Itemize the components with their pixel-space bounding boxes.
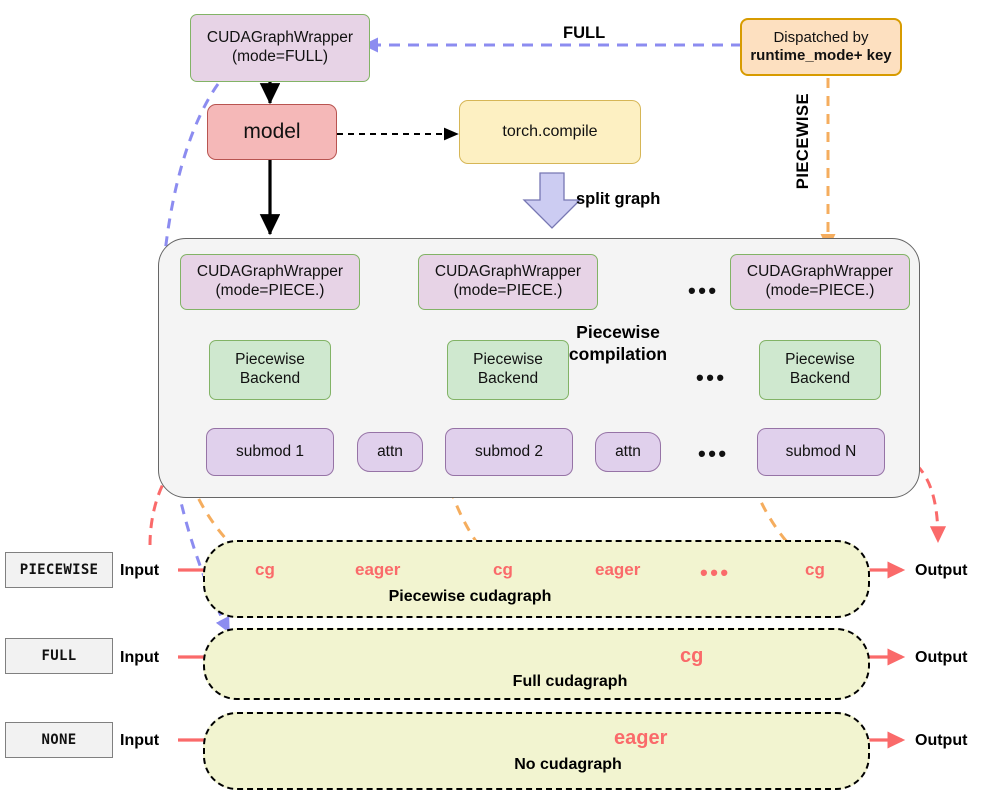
node-cudagraphwrapper-piece-1[interactable]: CUDAGraphWrapper (mode=PIECE.) <box>180 254 360 310</box>
node-dispatch[interactable]: Dispatched by runtime_mode+ key <box>740 18 902 76</box>
lane-piecewise-step-5: cg <box>805 560 825 580</box>
model-label: model <box>243 119 300 145</box>
group-ellipsis-wrappers: ••• <box>688 280 719 302</box>
lane-none-caption: No cudagraph <box>514 756 622 774</box>
lane-piecewise-output: Output <box>915 562 967 580</box>
node-torch-compile[interactable]: torch.compile <box>459 100 641 164</box>
node-cudagraphwrapper-piece-2[interactable]: CUDAGraphWrapper (mode=PIECE.) <box>418 254 598 310</box>
lane-piecewise-step-3: eager <box>595 560 640 580</box>
node-submod-1[interactable]: submod 1 <box>206 428 334 476</box>
lane-none-input: Input <box>120 732 159 750</box>
submod-n-label: submod N <box>786 443 857 462</box>
node-piecewise-backend-2[interactable]: Piecewise Backend <box>447 340 569 400</box>
lane-piecewise-step-2: cg <box>493 560 513 580</box>
edge-label-piecewise: PIECEWISE <box>794 93 813 189</box>
submod-2-label: submod 2 <box>475 443 543 462</box>
node-submod-n[interactable]: submod N <box>757 428 885 476</box>
split-graph-arrow <box>524 173 580 228</box>
lane-full-output: Output <box>915 649 967 667</box>
node-piecewise-backend-n[interactable]: Piecewise Backend <box>759 340 881 400</box>
edge-label-full: FULL <box>563 24 605 43</box>
mode-badge-none[interactable]: NONE <box>5 722 113 758</box>
lane-none <box>203 712 870 790</box>
submod-1-label: submod 1 <box>236 443 304 462</box>
node-submod-2[interactable]: submod 2 <box>445 428 573 476</box>
node-piecewise-backend-1[interactable]: Piecewise Backend <box>209 340 331 400</box>
dispatch-line1: Dispatched by <box>773 29 868 47</box>
lane-piecewise-input: Input <box>120 562 159 580</box>
node-cudagraphwrapper-full[interactable]: CUDAGraphWrapper (mode=FULL) <box>190 14 370 82</box>
mode-badge-full[interactable]: FULL <box>5 638 113 674</box>
node-attn-2[interactable]: attn <box>595 432 661 472</box>
lane-piecewise-step-0: cg <box>255 560 275 580</box>
group-ellipsis-backends: ••• <box>696 367 727 389</box>
node-cudagraphwrapper-piece-n[interactable]: CUDAGraphWrapper (mode=PIECE.) <box>730 254 910 310</box>
lane-piecewise <box>203 540 870 618</box>
dispatch-line2: runtime_mode+ key <box>750 47 891 65</box>
group-ellipsis-submods: ••• <box>698 443 729 465</box>
node-model[interactable]: model <box>207 104 337 160</box>
mode-badge-piecewise[interactable]: PIECEWISE <box>5 552 113 588</box>
lane-piecewise-step-1: eager <box>355 560 400 580</box>
lane-none-output: Output <box>915 732 967 750</box>
lane-full-caption: Full cudagraph <box>513 673 628 691</box>
lane-piecewise-step-4: ••• <box>700 562 731 584</box>
wrapper-full-text: CUDAGraphWrapper (mode=FULL) <box>207 29 353 67</box>
lane-piecewise-caption: Piecewise cudagraph <box>389 588 552 606</box>
lane-none-step-0: eager <box>614 727 667 750</box>
torch-compile-label: torch.compile <box>502 122 597 142</box>
lane-full-step-0: cg <box>680 645 703 668</box>
lane-full-input: Input <box>120 649 159 667</box>
node-attn-1[interactable]: attn <box>357 432 423 472</box>
diagram-canvas: CUDAGraphWrapper (mode=FULL) model torch… <box>0 0 985 800</box>
split-graph-label: split graph <box>576 190 660 209</box>
